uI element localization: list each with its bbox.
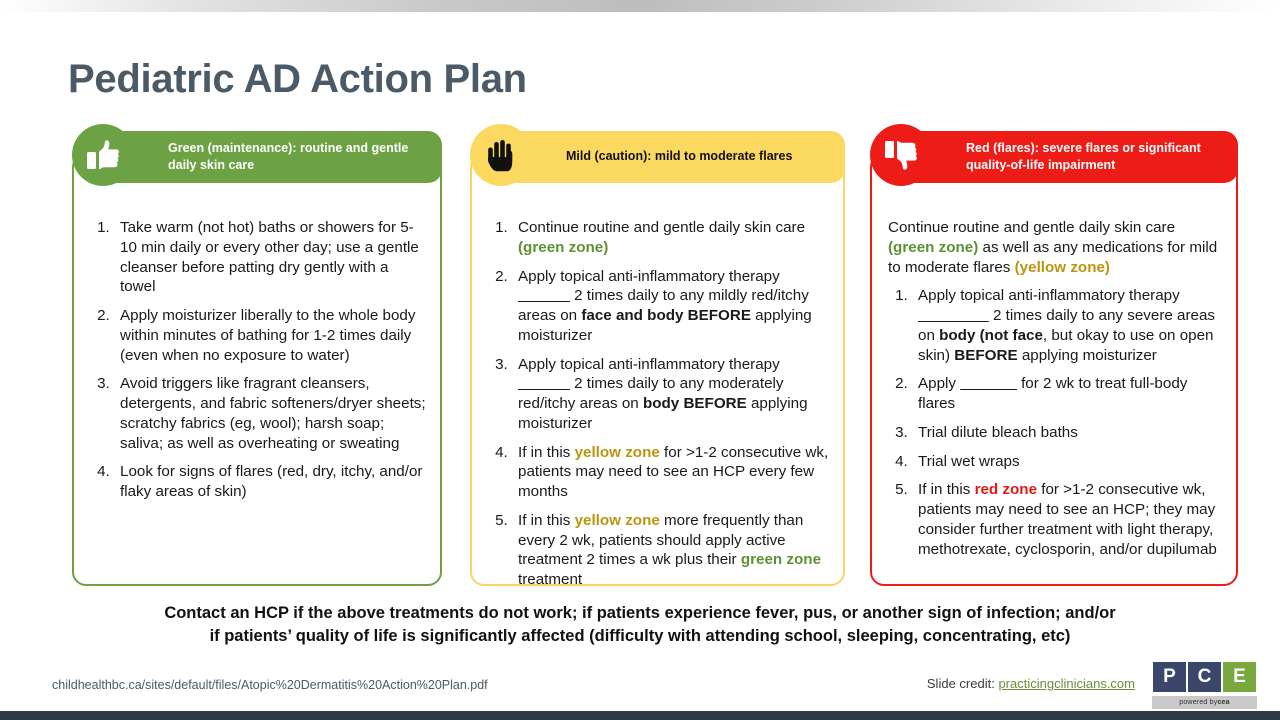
slide-credit-label: Slide credit:	[927, 676, 995, 691]
pce-tagline-prefix: powered by	[1179, 699, 1217, 706]
pce-tagline-brand: cea	[1217, 699, 1229, 706]
zone-card-yellow-body: Continue routine and gentle daily skin c…	[470, 153, 845, 586]
list-item: Apply topical anti-inflammatory therapy …	[512, 355, 829, 434]
thumbs-down-icon	[870, 124, 932, 186]
zone-card-green-heading: Green (maintenance): routine and gentle …	[168, 140, 432, 175]
zone-card-green-content: Take warm (not hot) baths or showers for…	[74, 209, 440, 502]
list-item: Apply topical anti-inflammatory therapy …	[912, 286, 1222, 365]
list-item: Avoid triggers like fragrant cleansers, …	[114, 374, 426, 453]
list-item: Continue routine and gentle daily skin c…	[512, 218, 829, 258]
zone-card-yellow-heading: Mild (caution): mild to moderate flares	[566, 148, 792, 165]
footer-callout-line-2: if patients’ quality of life is signific…	[64, 625, 1216, 648]
zone-card-red: Continue routine and gentle daily skin c…	[870, 131, 1238, 586]
zone-card-yellow-header: Mild (caution): mild to moderate flares	[508, 131, 845, 183]
list-item: Apply moisturizer liberally to the whole…	[114, 306, 426, 365]
list-item: If in this yellow zone more frequently t…	[512, 511, 829, 590]
pce-logo-tagline: powered by cea	[1152, 696, 1257, 709]
zone-cards-container: Take warm (not hot) baths or showers for…	[0, 131, 1280, 591]
list-item: Trial wet wraps	[912, 452, 1222, 472]
top-gradient-band	[0, 0, 1280, 12]
list-item: If in this red zone for >1-2 consecutive…	[912, 480, 1222, 559]
list-item: Trial dilute bleach baths	[912, 423, 1222, 443]
list-item: Apply topical anti-inflammatory therapy …	[512, 267, 829, 346]
pce-letter-e: E	[1223, 662, 1256, 692]
zone-card-red-body: Continue routine and gentle daily skin c…	[870, 153, 1238, 586]
zone-card-red-header: Red (flares): severe flares or significa…	[908, 131, 1238, 183]
pce-letter-p: P	[1153, 662, 1188, 692]
zone-card-yellow-content: Continue routine and gentle daily skin c…	[472, 209, 843, 590]
list-item: Take warm (not hot) baths or showers for…	[114, 218, 426, 297]
list-item: Apply for 2 wk to treat full-body flares	[912, 374, 1222, 414]
zone-card-green-body: Take warm (not hot) baths or showers for…	[72, 153, 442, 586]
footer-callout-line-1: Contact an HCP if the above treatments d…	[64, 602, 1216, 625]
raised-hand-icon	[470, 124, 532, 186]
pce-letter-c: C	[1188, 662, 1223, 692]
slide-credit-link[interactable]: practicingclinicians.com	[998, 676, 1135, 691]
source-url[interactable]: childhealthbc.ca/sites/default/files/Ato…	[52, 678, 488, 692]
green-steps-list: Take warm (not hot) baths or showers for…	[84, 218, 426, 502]
red-lead-paragraph: Continue routine and gentle daily skin c…	[888, 218, 1222, 277]
pce-logo: P C E powered by cea	[1152, 661, 1257, 709]
zone-card-green: Take warm (not hot) baths or showers for…	[72, 131, 442, 586]
zone-card-red-content: Continue routine and gentle daily skin c…	[872, 209, 1236, 559]
red-steps-list: Apply topical anti-inflammatory therapy …	[882, 286, 1222, 559]
thumbs-up-icon	[72, 124, 134, 186]
zone-card-red-heading: Red (flares): severe flares or significa…	[966, 140, 1228, 175]
list-item: Look for signs of flares (red, dry, itch…	[114, 462, 426, 502]
yellow-steps-list: Continue routine and gentle daily skin c…	[482, 218, 829, 590]
footer-callout: Contact an HCP if the above treatments d…	[64, 602, 1216, 648]
pce-logo-letters: P C E	[1152, 661, 1257, 693]
page-title: Pediatric AD Action Plan	[68, 57, 527, 102]
bottom-navy-band	[0, 711, 1280, 720]
zone-card-green-header: Green (maintenance): routine and gentle …	[110, 131, 442, 183]
slide-credit: Slide credit: practicingclinicians.com	[927, 676, 1135, 691]
zone-card-yellow: Continue routine and gentle daily skin c…	[470, 131, 845, 586]
list-item: If in this yellow zone for >1-2 consecut…	[512, 443, 829, 502]
